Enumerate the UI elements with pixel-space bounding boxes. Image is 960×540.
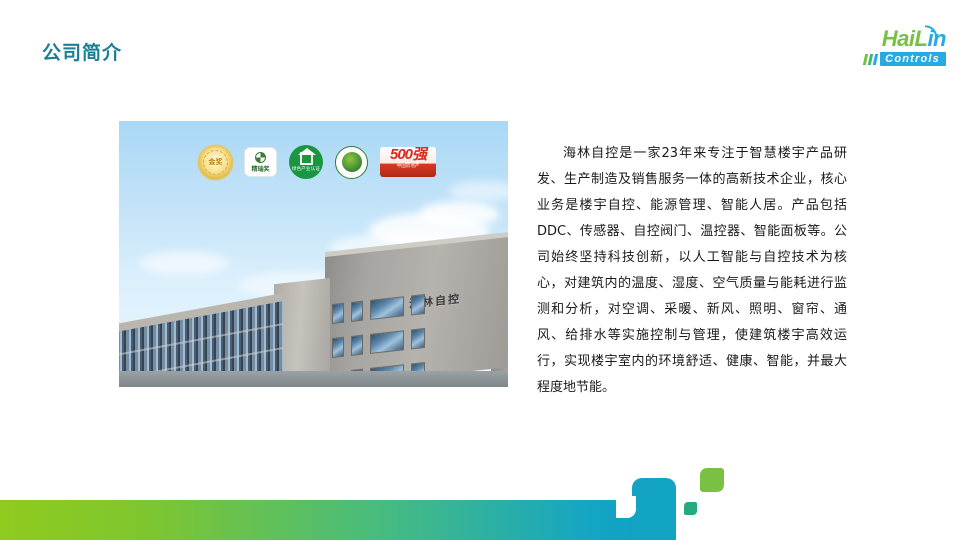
eco-certification-badge — [335, 146, 368, 179]
logo-wordmark-part1: HaiL — [882, 26, 928, 51]
globe-icon — [342, 152, 362, 172]
cloud-shape — [449, 181, 508, 201]
company-logo: HaiLin Controls — [824, 28, 946, 68]
company-building-photo: 金奖 精瑞奖 绿色产业认证 500强 中国房地产 — [119, 121, 508, 387]
top-500-badge: 500强 中国房地产 — [380, 147, 436, 177]
cloud-shape — [139, 251, 229, 275]
house-icon — [300, 152, 313, 165]
gold-award-badge: 金奖 — [199, 146, 232, 179]
cloud-shape — [419, 201, 499, 227]
top-500-badge-number: 500强 — [390, 147, 426, 163]
footer-gradient-bar — [0, 500, 672, 540]
decoration-square-green — [700, 468, 724, 492]
footer-hook-shape — [632, 478, 676, 540]
green-building-badge-label: 绿色产业认证 — [292, 166, 320, 172]
gold-award-badge-label: 金奖 — [209, 157, 223, 167]
flower-icon — [255, 152, 266, 163]
certification-badge: 精瑞奖 — [244, 147, 277, 177]
bars-icon — [864, 54, 877, 65]
logo-subtitle: Controls — [880, 52, 946, 66]
top-500-badge-sub: 中国房地产 — [397, 163, 420, 169]
certification-badge-label: 精瑞奖 — [251, 164, 269, 173]
decoration-square-teal — [684, 502, 697, 515]
green-building-badge: 绿色产业认证 — [289, 145, 323, 179]
company-description-paragraph: 海林自控是一家23年来专注于智慧楼宇产品研发、生产制造及销售服务一体的高新技术企… — [537, 141, 847, 401]
slide-root: 公司简介 HaiLin Controls 金奖 精瑞奖 — [0, 0, 960, 540]
logo-subtitle-row: Controls — [824, 52, 946, 66]
ground-strip — [119, 371, 508, 387]
page-title: 公司简介 — [42, 42, 122, 66]
certification-badge-row: 金奖 精瑞奖 绿色产业认证 500强 中国房地产 — [199, 145, 436, 179]
